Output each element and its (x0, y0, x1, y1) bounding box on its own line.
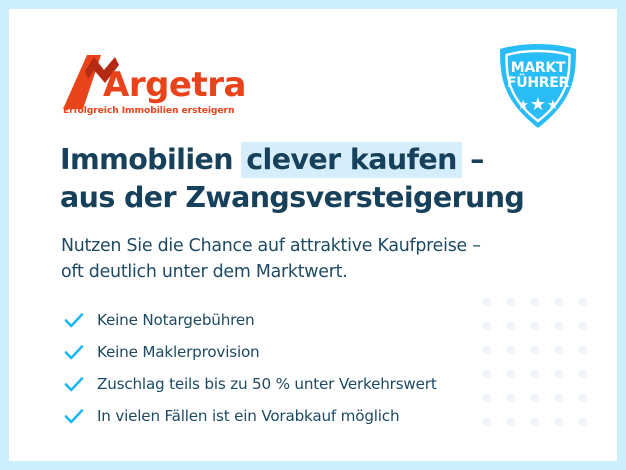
dot (579, 322, 587, 330)
dot (483, 298, 491, 306)
dot (555, 322, 563, 330)
list-item: Zuschlag teils bis zu 50 % unter Verkehr… (63, 370, 533, 398)
subheadline-line-1: Nutzen Sie die Chance auf attraktive Kau… (61, 233, 561, 259)
dot (531, 298, 539, 306)
dot (579, 298, 587, 306)
dot (579, 346, 587, 354)
check-icon (63, 341, 85, 363)
list-item: In vielen Fällen ist ein Vorabkauf mögli… (63, 402, 533, 430)
dot (507, 298, 515, 306)
list-item: Keine Maklerprovision (63, 338, 533, 366)
headline-highlight: clever kaufen (241, 142, 462, 178)
shield-badge-icon (496, 42, 580, 130)
check-icon (63, 373, 85, 395)
dot (579, 394, 587, 402)
dot (579, 370, 587, 378)
logo-tagline: Erfolgreich Immobilien ersteigern (63, 105, 234, 116)
check-icon (63, 309, 85, 331)
market-leader-badge: MARKT FÜHRER ★ ★ ★ (496, 42, 580, 130)
list-item: Keine Notargebühren (63, 306, 533, 334)
dot (555, 418, 563, 426)
list-item-label: In vielen Fällen ist ein Vorabkauf mögli… (97, 407, 399, 425)
check-icon (63, 405, 85, 427)
headline-line-1: Immobilien clever kaufen – (60, 141, 560, 179)
list-item-label: Zuschlag teils bis zu 50 % unter Verkehr… (97, 375, 437, 393)
benefit-list: Keine Notargebühren Keine Maklerprovisio… (63, 306, 533, 434)
dot (555, 394, 563, 402)
subheadline: Nutzen Sie die Chance auf attraktive Kau… (61, 233, 561, 286)
headline-line-2: aus der Zwangsversteigerung (60, 179, 560, 217)
dot (555, 346, 563, 354)
subheadline-line-2: oft deutlich unter dem Marktwert. (61, 259, 561, 285)
headline: Immobilien clever kaufen – aus der Zwang… (60, 141, 560, 217)
dot (579, 418, 587, 426)
headline-post: – (461, 143, 484, 176)
logo-wordmark: Argetra (103, 68, 246, 102)
list-item-label: Keine Maklerprovision (97, 343, 259, 361)
brand-logo[interactable]: Argetra Erfolgreich Immobilien ersteiger… (61, 47, 261, 119)
dot (555, 370, 563, 378)
headline-pre: Immobilien (60, 143, 242, 176)
promo-banner: Argetra Erfolgreich Immobilien ersteiger… (0, 0, 626, 470)
dot (555, 298, 563, 306)
list-item-label: Keine Notargebühren (97, 311, 254, 329)
banner-inner: Argetra Erfolgreich Immobilien ersteiger… (9, 9, 617, 461)
